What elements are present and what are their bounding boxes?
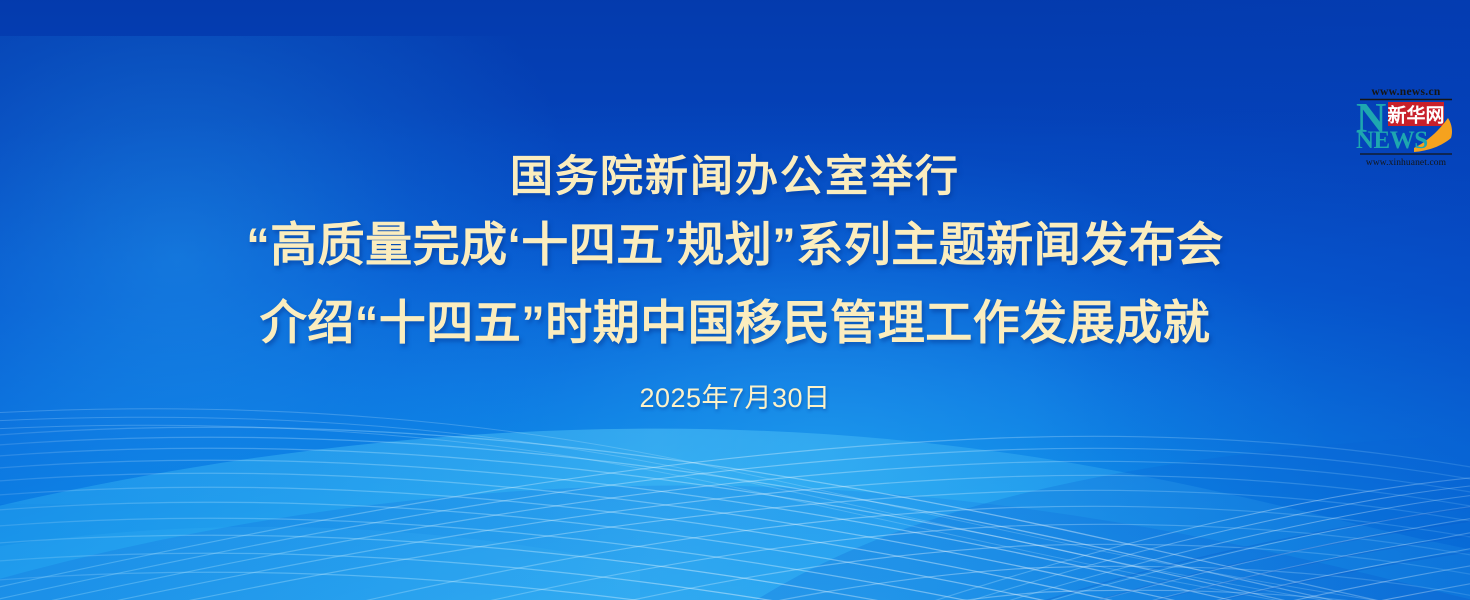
headline-line-1: 国务院新闻办公室举行 — [0, 148, 1470, 206]
headline-line-2: “高质量完成‘十四五’规划”系列主题新闻发布会 — [0, 206, 1470, 284]
headline-block: 国务院新闻办公室举行 “高质量完成‘十四五’规划”系列主题新闻发布会 介绍“十四… — [0, 148, 1470, 415]
press-conference-banner: 国务院新闻办公室举行 “高质量完成‘十四五’规划”系列主题新闻发布会 介绍“十四… — [0, 0, 1470, 600]
event-date: 2025年7月30日 — [0, 376, 1470, 415]
xinhuanet-logo[interactable]: www.news.cn N 新华网 NEWS www.xinhuanet.com — [1352, 82, 1460, 170]
logo-letter-word: NEWS — [1356, 127, 1428, 154]
headline-line-3: 介绍“十四五”时期中国移民管理工作发展成就 — [0, 284, 1470, 362]
logo-bottom-url-text: www.xinhuanet.com — [1366, 158, 1447, 168]
logo-wordmark-cn: 新华网 — [1387, 104, 1444, 127]
